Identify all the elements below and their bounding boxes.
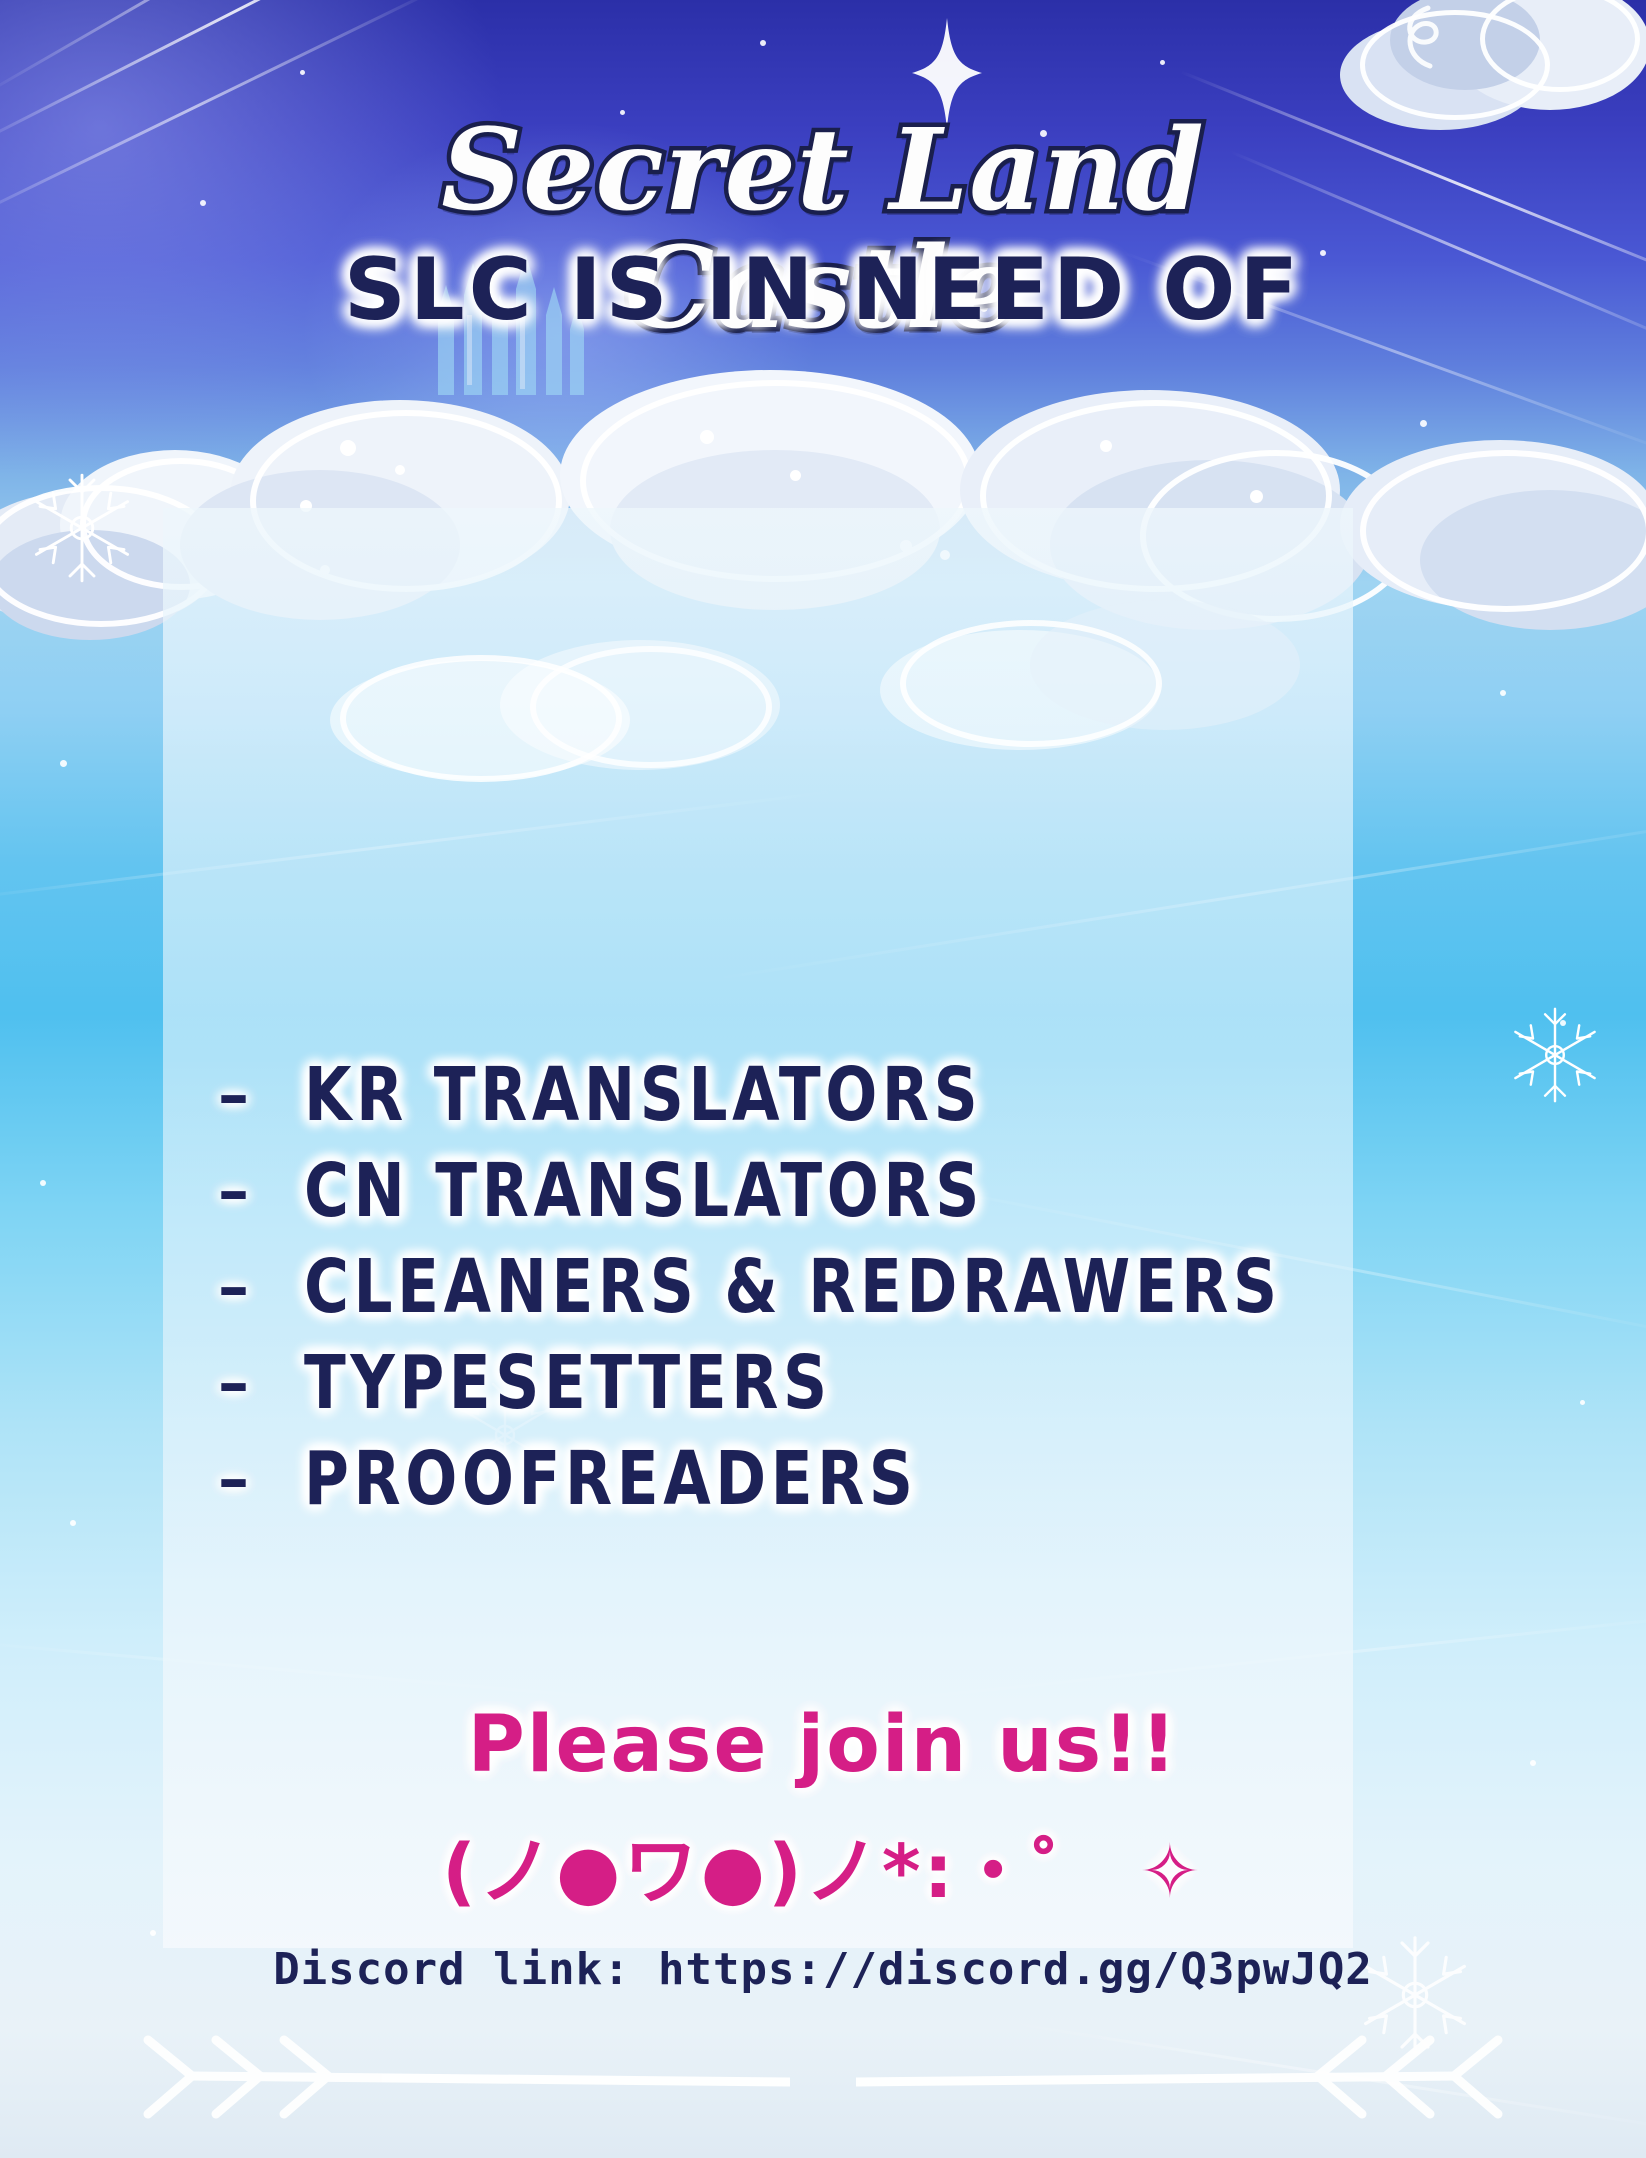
list-item: – TYPESETTERS (218, 1335, 1367, 1431)
list-item-label: KR TRANSLATORS (304, 1052, 982, 1138)
poster-canvas: Secret Land Castle SLC IS IN NEED OF – K… (0, 0, 1646, 2158)
list-item-label: PROOFREADERS (304, 1436, 918, 1522)
call-to-action-text: Please join us!! (0, 1700, 1646, 1790)
list-bullet: – (218, 1352, 270, 1414)
snow-dot (300, 70, 305, 75)
snow-dot (1580, 1400, 1585, 1405)
snow-dot (1560, 1020, 1566, 1026)
list-item-label: TYPESETTERS (304, 1340, 832, 1426)
snow-dot (1500, 690, 1506, 696)
list-item: – CLEANERS & REDRAWERS (218, 1239, 1367, 1335)
list-bullet: – (218, 1160, 270, 1222)
snow-dot (40, 1180, 46, 1186)
arrow-icon (130, 2024, 790, 2134)
snowflake-icon (1500, 1000, 1610, 1110)
page-title: SLC IS IN NEED OF (0, 240, 1646, 340)
list-item: – PROOFREADERS (218, 1431, 1367, 1527)
list-bullet: – (218, 1448, 270, 1510)
snow-dot (60, 760, 67, 767)
snow-dot (150, 1930, 156, 1936)
list-bullet: – (218, 1256, 270, 1318)
snow-dot (1160, 60, 1165, 65)
cloud-wisp (1330, 0, 1450, 130)
light-streak (0, 0, 344, 98)
discord-link[interactable]: Discord link: https://discord.gg/Q3pwJQ2 (0, 1944, 1646, 1995)
list-item: – CN TRANSLATORS (218, 1143, 1367, 1239)
snowflake-icon (22, 468, 142, 588)
list-item: – KR TRANSLATORS (218, 1047, 1367, 1143)
list-item-label: CN TRANSLATORS (304, 1148, 984, 1234)
title-line-1: Secret Land (0, 112, 1646, 230)
snow-dot (70, 1520, 76, 1526)
arrow-icon (856, 2024, 1516, 2134)
list-item-label: CLEANERS & REDRAWERS (304, 1244, 1282, 1330)
snow-dot (760, 40, 766, 46)
needs-list: – KR TRANSLATORS – CN TRANSLATORS – CLEA… (218, 1047, 1367, 1527)
kaomoji-text: (ノ●ワ●)ノ*:・゜ ✧ (0, 1812, 1646, 1919)
snow-dot (1420, 420, 1427, 427)
snow-dot (120, 480, 126, 486)
list-bullet: – (218, 1064, 270, 1126)
